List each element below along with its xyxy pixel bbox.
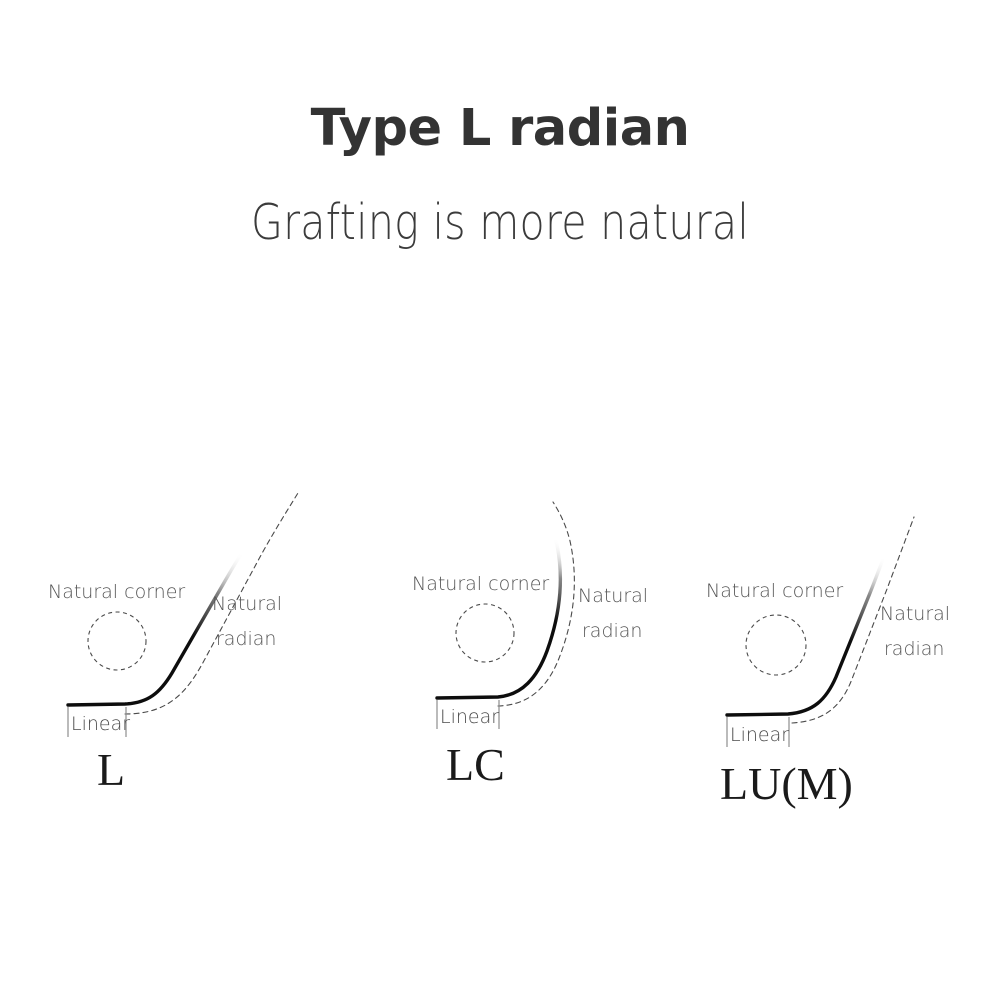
lash-curve-solid (437, 509, 560, 698)
page-title: Type L radian (0, 98, 1000, 160)
natural-radian-label-line1: Natural (212, 593, 282, 615)
natural-radian-label-line2: radian (582, 620, 642, 642)
natural-radian-label-line2: radian (216, 628, 276, 650)
lash-curve-solid (727, 518, 898, 715)
diagram-lc: Natural corner Natural radian Linear LC (370, 465, 700, 815)
natural-corner-circle (88, 612, 146, 670)
diagram-name-lum: LU(M) (720, 758, 853, 809)
linear-label: Linear (730, 724, 789, 746)
natural-corner-label: Natural corner (706, 580, 843, 602)
heading-block: Type L radian Grafting is more natural (0, 98, 1000, 254)
natural-radian-label-line2: radian (884, 638, 944, 660)
diagram-row: Natural corner Natural radian Linear L (0, 465, 1000, 815)
diagram-name-l: L (97, 744, 125, 795)
diagram-name-lc: LC (446, 739, 505, 790)
linear-label: Linear (71, 713, 130, 735)
natural-radian-label-line1: Natural (880, 603, 950, 625)
linear-label: Linear (440, 706, 499, 728)
page-subtitle: Grafting is more natural (80, 192, 920, 254)
natural-radian-label-line1: Natural (578, 585, 648, 607)
diagram-l: Natural corner Natural radian Linear L (20, 465, 350, 815)
diagram-lum: Natural corner Natural radian Linear LU(… (680, 465, 1000, 815)
natural-corner-label: Natural corner (48, 581, 185, 603)
natural-corner-label: Natural corner (412, 573, 549, 595)
natural-corner-circle (746, 615, 806, 675)
natural-corner-circle (456, 604, 514, 662)
page-root: Type L radian Grafting is more natural (0, 0, 1000, 1000)
